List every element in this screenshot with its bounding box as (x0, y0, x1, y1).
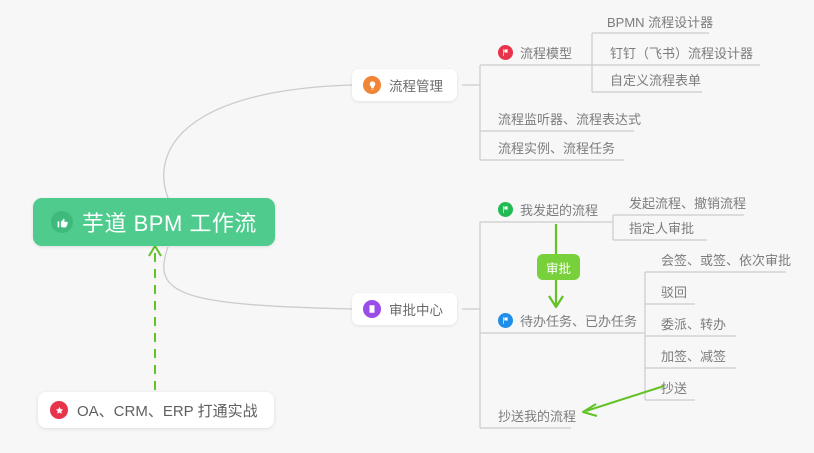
node-label: 加签、减签 (661, 346, 726, 365)
node-dingtalk-feishu-designer[interactable]: 钉钉（飞书）流程设计器 (601, 39, 762, 65)
node-reject[interactable]: 驳回 (652, 278, 696, 304)
node-assignee-approval[interactable]: 指定人审批 (620, 214, 703, 240)
node-todo-done-tasks[interactable]: 待办任务、已办任务 (489, 307, 646, 333)
branch-process-management[interactable]: 流程管理 (352, 69, 457, 101)
node-process-listener-expression[interactable]: 流程监听器、流程表达式 (489, 105, 650, 131)
root-label: 芋道 BPM 工作流 (82, 206, 257, 238)
node-label: BPMN 流程设计器 (607, 12, 713, 31)
node-label: 委派、转办 (661, 314, 726, 333)
branch-label: 审批中心 (389, 299, 443, 319)
node-label: 发起流程、撤销流程 (629, 193, 746, 212)
node-label: 抄送 (661, 378, 687, 397)
node-custom-process-form[interactable]: 自定义流程表单 (601, 66, 710, 92)
node-delegate-transfer[interactable]: 委派、转办 (652, 310, 735, 336)
flag-icon (498, 45, 513, 60)
node-process-model[interactable]: 流程模型 (489, 39, 581, 65)
node-label: 抄送我的流程 (498, 406, 576, 425)
thumbs-up-icon (51, 211, 73, 233)
branch-approval-center[interactable]: 审批中心 (352, 293, 457, 325)
branch-label: 流程管理 (389, 75, 443, 95)
node-start-cancel-process[interactable]: 发起流程、撤销流程 (620, 189, 755, 215)
node-label: 钉钉（飞书）流程设计器 (610, 43, 753, 62)
node-process-instance-task[interactable]: 流程实例、流程任务 (489, 134, 624, 160)
mindmap-canvas: 芋道 BPM 工作流 流程管理 流程模型 BPMN 流程设计器 钉钉（飞书）流程… (0, 0, 814, 453)
node-label: 流程模型 (520, 43, 572, 62)
flag-icon (498, 202, 513, 217)
clipboard-icon (363, 300, 381, 318)
root-node[interactable]: 芋道 BPM 工作流 (33, 198, 275, 246)
star-icon (50, 401, 68, 419)
node-label: 指定人审批 (629, 218, 694, 237)
node-add-remove-sign[interactable]: 加签、减签 (652, 342, 735, 368)
node-label: 流程监听器、流程表达式 (498, 109, 641, 128)
node-label: 会签、或签、依次审批 (661, 250, 791, 269)
flag-icon (498, 313, 513, 328)
node-label: 待办任务、已办任务 (520, 311, 637, 330)
node-cc-to-me-process[interactable]: 抄送我的流程 (489, 402, 585, 428)
integration-callout-label: OA、CRM、ERP 打通实战 (77, 400, 258, 421)
node-counter-or-sequential-sign[interactable]: 会签、或签、依次审批 (652, 246, 800, 272)
integration-callout[interactable]: OA、CRM、ERP 打通实战 (38, 392, 274, 428)
node-bpmn-designer[interactable]: BPMN 流程设计器 (598, 8, 722, 34)
node-my-initiated-process[interactable]: 我发起的流程 (489, 196, 607, 222)
node-label: 我发起的流程 (520, 200, 598, 219)
node-label: 驳回 (661, 282, 687, 301)
node-label: 自定义流程表单 (610, 70, 701, 89)
node-cc[interactable]: 抄送 (652, 374, 696, 400)
node-label: 流程实例、流程任务 (498, 138, 615, 157)
lightbulb-pin-icon (363, 76, 381, 94)
approval-tag[interactable]: 审批 (537, 254, 580, 280)
approval-tag-label: 审批 (546, 258, 571, 277)
